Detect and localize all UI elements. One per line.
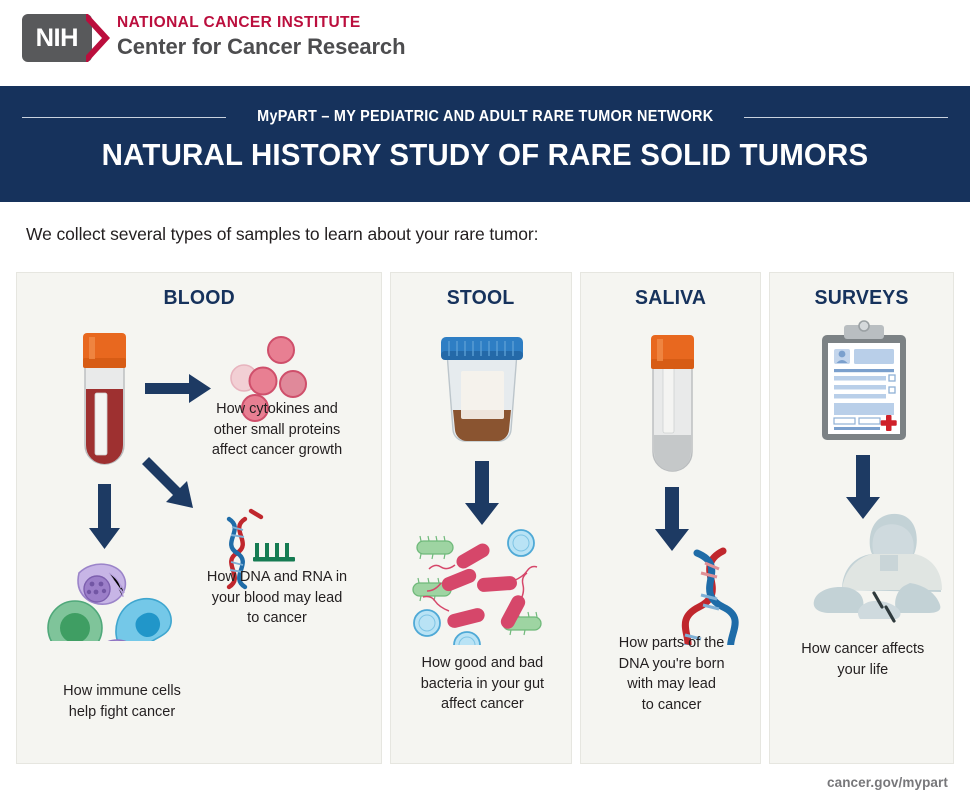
stool-cup-icon xyxy=(441,337,523,441)
panel-blood: BLOOD xyxy=(16,272,382,764)
nih-chevron-icon xyxy=(80,14,112,62)
arrow-down-icon xyxy=(465,461,499,525)
blood-caption-cytokines: How cytokines andother small proteinsaff… xyxy=(177,399,377,461)
panel-stool: STOOL xyxy=(390,272,571,764)
dna-helix-icon xyxy=(677,551,739,645)
rule-right xyxy=(744,117,948,118)
banner-title: NATURAL HISTORY STUDY OF RARE SOLID TUMO… xyxy=(24,137,946,173)
title-banner: MyPART – MY PEDIATRIC AND ADULT RARE TUM… xyxy=(0,86,970,202)
panel-saliva-title: SALIVA xyxy=(585,286,755,310)
blood-caption-immune: How immune cellshelp fight cancer xyxy=(17,681,227,722)
panel-surveys-title: SURVEYS xyxy=(774,286,948,310)
panels-row: BLOOD xyxy=(16,272,954,764)
nih-logo-text: NIH xyxy=(36,26,78,51)
arrow-down-icon xyxy=(846,455,880,519)
intro-text: We collect several types of samples to l… xyxy=(26,224,538,245)
nih-logo: NIH xyxy=(22,14,110,62)
arrow-diagonal-icon xyxy=(142,457,193,508)
panel-surveys: SURVEYS xyxy=(769,272,954,764)
panel-blood-title: BLOOD xyxy=(26,286,372,310)
arrow-down-icon xyxy=(655,487,689,551)
banner-subtitle: MyPART – MY PEDIATRIC AND ADULT RARE TUM… xyxy=(257,108,713,126)
banner-subtitle-row: MyPART – MY PEDIATRIC AND ADULT RARE TUM… xyxy=(0,108,970,126)
panel-saliva: SALIVA xyxy=(580,272,761,764)
bacteria-icon xyxy=(413,530,541,645)
rule-left xyxy=(22,117,226,118)
blood-caption-dna: How DNA and RNA inyour blood may leadto … xyxy=(177,567,377,629)
footer-url: cancer.gov/mypart xyxy=(827,775,948,790)
nih-header: NIH NATIONAL CANCER INSTITUTE Center for… xyxy=(0,0,970,86)
clipboard-icon xyxy=(822,321,906,440)
blood-tube-icon xyxy=(83,333,126,464)
stool-caption: How good and badbacteria in your gutaffe… xyxy=(391,653,571,715)
saliva-illustration xyxy=(581,315,761,645)
saliva-tube-icon xyxy=(651,335,694,471)
arrow-down-icon xyxy=(89,484,120,549)
nci-line-2: Center for Cancer Research xyxy=(117,34,405,60)
saliva-caption: How parts of theDNA you're bornwith may … xyxy=(581,633,761,715)
person-writing-icon xyxy=(813,514,941,621)
stool-illustration xyxy=(391,315,571,645)
immune-cells-icon xyxy=(48,564,171,641)
surveys-caption: How cancer affectsyour life xyxy=(770,639,954,680)
nci-wordmark: NATIONAL CANCER INSTITUTE Center for Can… xyxy=(117,14,405,60)
infographic-page: NIH NATIONAL CANCER INSTITUTE Center for… xyxy=(0,0,970,808)
surveys-illustration xyxy=(770,315,954,645)
panel-stool-title: STOOL xyxy=(396,286,566,310)
nci-line-1: NATIONAL CANCER INSTITUTE xyxy=(117,14,405,32)
rna-comb-icon xyxy=(253,543,295,562)
